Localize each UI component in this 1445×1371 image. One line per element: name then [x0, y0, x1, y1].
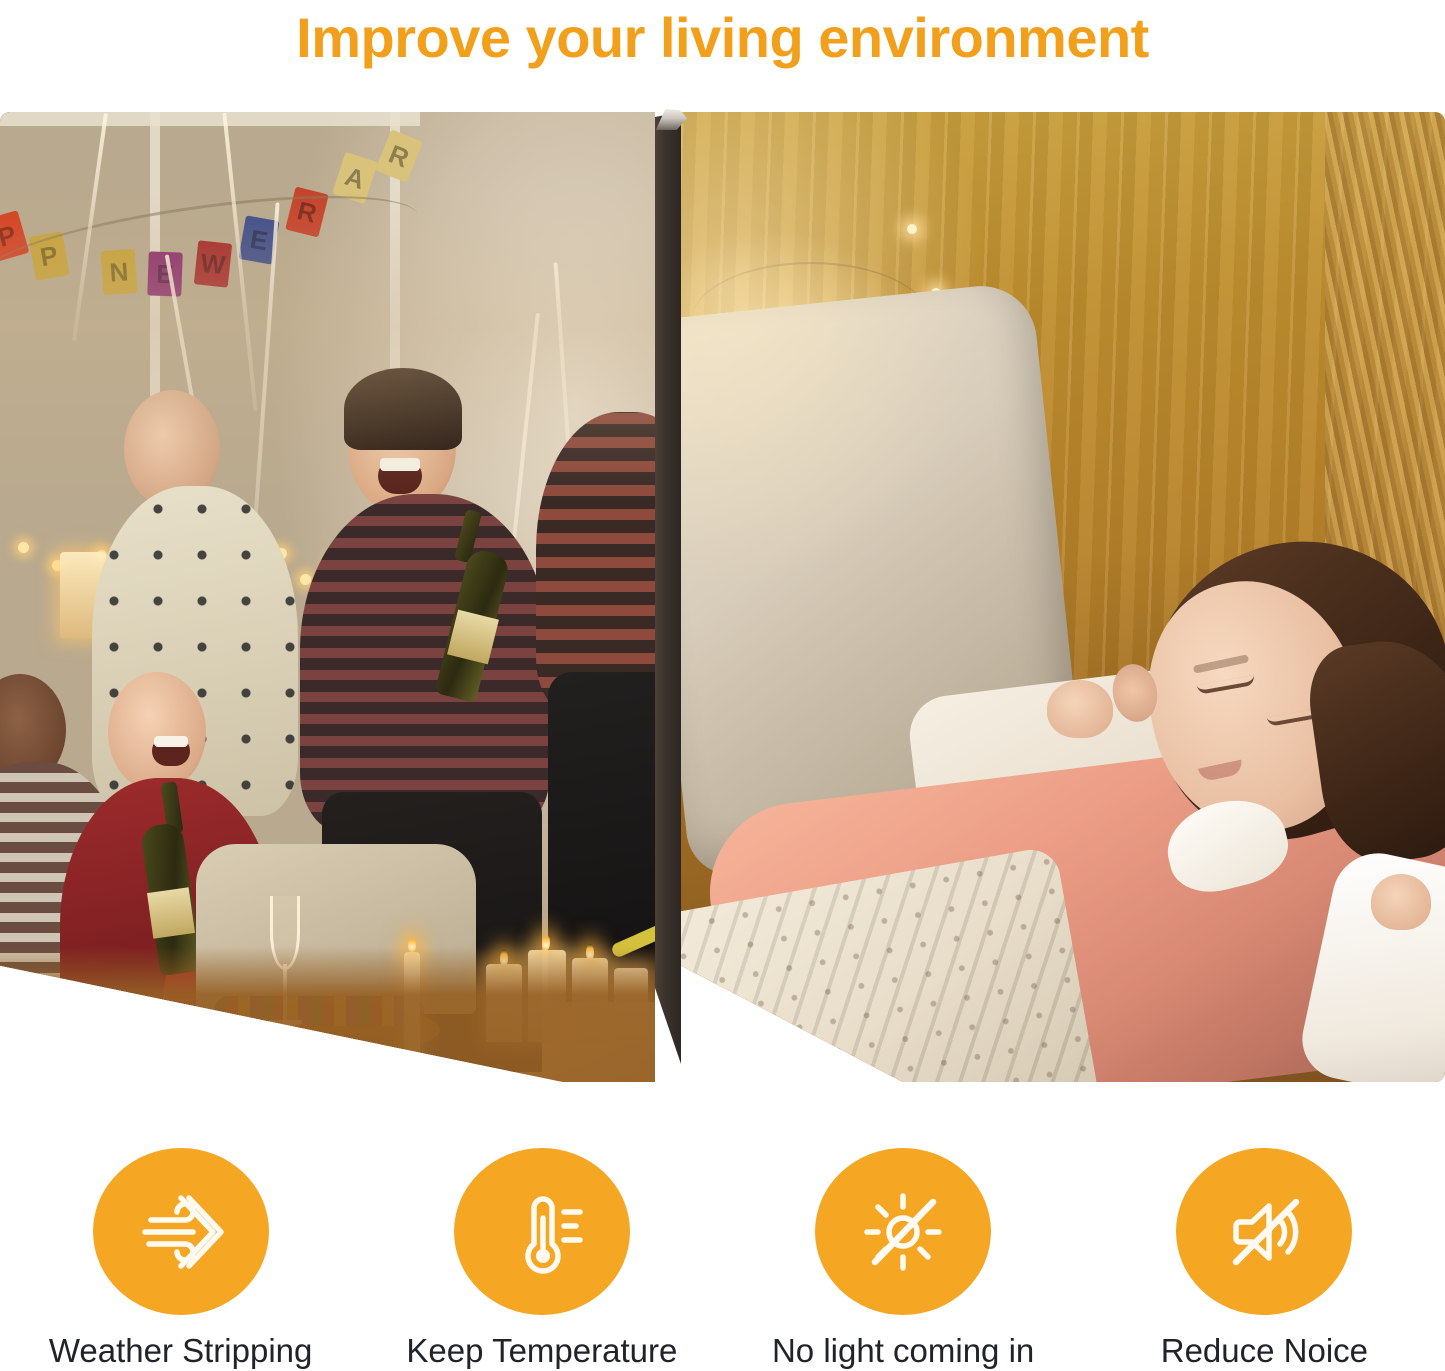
- wind-stripping-icon: [131, 1182, 231, 1282]
- streamer: [393, 444, 451, 699]
- champagne-flute: [270, 896, 300, 970]
- candle-flame: [500, 950, 508, 966]
- flute-base: [268, 1020, 302, 1025]
- page-title: Improve your living environment: [0, 2, 1445, 74]
- bottle-neck: [160, 781, 183, 835]
- candle-flame: [542, 934, 550, 950]
- streamer: [222, 113, 257, 412]
- banner-letter: A: [332, 152, 378, 204]
- bottle-label: [147, 887, 195, 938]
- feature-reduce-noise[interactable]: Reduce Noice: [1084, 1148, 1445, 1371]
- string-light: [276, 548, 287, 559]
- person-body: [0, 762, 132, 1062]
- bedroom-photo-panel: [681, 112, 1445, 1082]
- person-body: [92, 486, 298, 816]
- feature-no-light[interactable]: No light coming in: [723, 1148, 1084, 1371]
- string-light: [96, 550, 107, 561]
- party-photo-panel: P P N E W E R A R: [0, 112, 655, 1082]
- feature-label: No light coming in: [772, 1331, 1034, 1371]
- champagne-bottle: [434, 547, 511, 703]
- no-sunlight-icon: [853, 1182, 953, 1282]
- banner-letter: W: [194, 240, 232, 287]
- banner-letter: E: [147, 251, 183, 296]
- child-eye: [1267, 707, 1326, 727]
- hero-image-pair: P P N E W E R A R: [0, 112, 1445, 1082]
- bottle-label: [447, 610, 499, 665]
- throw-blanket: [0, 1012, 280, 1082]
- trouser-stripe: [610, 919, 655, 959]
- window-mullion: [390, 112, 400, 732]
- child-brow: [1193, 654, 1249, 673]
- person-legs: [548, 672, 655, 1002]
- child-hair-strand: [1302, 630, 1445, 870]
- child-hand: [1371, 874, 1431, 930]
- person-head: [348, 382, 456, 514]
- person-hair: [112, 374, 234, 504]
- party-photo: P P N E W E R A R: [0, 112, 655, 1082]
- star-pattern: [92, 486, 298, 816]
- streamer: [72, 113, 108, 341]
- champagne-bottle: [140, 822, 202, 976]
- streamer: [165, 254, 231, 609]
- bed-pillow: [905, 637, 1445, 988]
- child-face: [1127, 561, 1383, 851]
- fairy-light: [699, 402, 709, 412]
- fairy-light: [681, 344, 691, 354]
- person-body: [300, 494, 550, 834]
- string-light: [142, 564, 153, 575]
- beige-cushion: [681, 281, 1089, 880]
- candle-flame: [408, 936, 416, 952]
- feature-label: Keep Temperature: [406, 1331, 677, 1371]
- window-mullion: [0, 112, 420, 126]
- teeth: [154, 736, 188, 747]
- streamer: [248, 202, 279, 591]
- thermometer-icon: [492, 1182, 592, 1282]
- feature-badge[interactable]: [454, 1148, 630, 1315]
- fairy-light-wire: [691, 262, 931, 382]
- window-mullion: [150, 112, 160, 732]
- streamer: [554, 262, 579, 562]
- banner-letter: E: [238, 215, 279, 264]
- person-body: [536, 412, 655, 712]
- new-year-banner: P P N E W E R A R: [0, 142, 590, 292]
- feature-row: Weather Stripping Keep Temperature: [0, 1148, 1445, 1371]
- child-mouth: [1198, 760, 1244, 783]
- feature-weather-stripping[interactable]: Weather Stripping: [0, 1148, 361, 1371]
- knit-texture: [681, 845, 1100, 1082]
- banner-letter: P: [0, 210, 29, 262]
- child-collar: [1158, 789, 1295, 901]
- knit-blanket: [681, 845, 1100, 1082]
- child-eye: [1197, 675, 1256, 695]
- streamer: [496, 313, 540, 691]
- string-light: [328, 556, 339, 567]
- coffee-table: [200, 1004, 440, 1056]
- child-arm: [1295, 845, 1445, 1082]
- tall-candle: [404, 952, 420, 1082]
- feature-badge[interactable]: [93, 1148, 269, 1315]
- open-mouth: [152, 736, 190, 766]
- child-hand: [1047, 680, 1113, 738]
- person-legs: [322, 792, 542, 1072]
- fur-throw: [1325, 112, 1445, 872]
- banner-letter: R: [375, 129, 423, 183]
- person-head: [0, 674, 66, 786]
- banner-cord: [0, 176, 423, 316]
- person-head: [124, 390, 220, 508]
- sleeping-child-photo: [681, 112, 1445, 1082]
- banner-letter: N: [101, 249, 138, 295]
- feature-badge[interactable]: [1176, 1148, 1352, 1315]
- candle: [614, 968, 648, 1040]
- person-head: [108, 672, 206, 792]
- muted-speaker-icon: [1214, 1182, 1314, 1282]
- open-mouth: [378, 458, 422, 494]
- string-light: [52, 560, 63, 571]
- string-light: [300, 574, 311, 585]
- child-hair: [1117, 506, 1445, 867]
- fairy-light: [907, 224, 917, 234]
- pink-duvet: [700, 724, 1445, 1082]
- red-dress-drape: [149, 902, 372, 1082]
- person-hair: [344, 368, 462, 450]
- string-light: [18, 542, 29, 553]
- child-ear: [1108, 661, 1161, 726]
- feature-label: Weather Stripping: [49, 1331, 313, 1371]
- bottle-neck: [454, 509, 482, 563]
- fairy-light: [931, 288, 941, 298]
- product-feature-page: Improve your living environment P P N E …: [0, 0, 1445, 1371]
- candle: [486, 964, 522, 1042]
- candle: [528, 950, 566, 1042]
- teeth: [380, 458, 420, 471]
- banner-letter: P: [28, 231, 69, 280]
- banner-letter: R: [285, 187, 329, 238]
- candle: [572, 958, 608, 1042]
- person-hair: [64, 660, 194, 840]
- flute-stem: [283, 964, 287, 1022]
- sofa-cushion: [196, 844, 476, 1014]
- door-edge-divider: [655, 112, 681, 1064]
- feature-keep-temperature[interactable]: Keep Temperature: [361, 1148, 722, 1371]
- sweets: [214, 996, 424, 1026]
- candle: [60, 552, 106, 638]
- feature-label: Reduce Noice: [1161, 1331, 1368, 1371]
- person-body: [60, 778, 275, 1082]
- candle-flame: [586, 944, 594, 960]
- feature-badge[interactable]: [815, 1148, 991, 1315]
